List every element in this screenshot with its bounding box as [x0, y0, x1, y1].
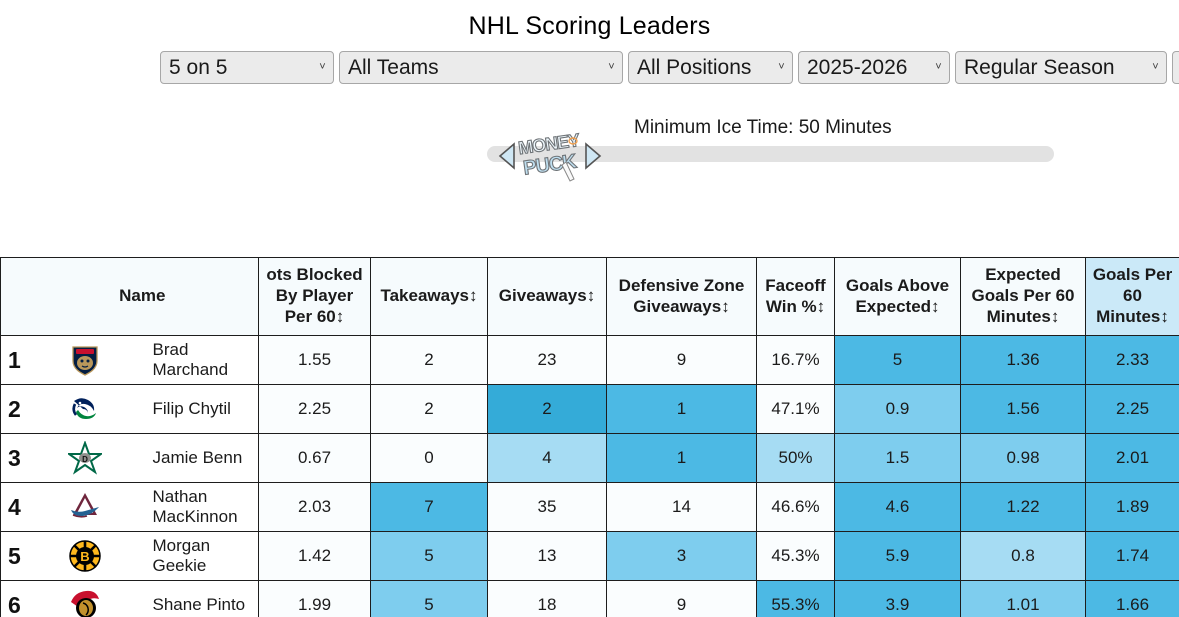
cell-dzgive: 3 [607, 532, 757, 581]
cell-takeaways: 7 [371, 483, 488, 532]
cell-giveaways: 13 [488, 532, 607, 581]
table-row[interactable]: 3DJamie Benn0.6704150%1.50.982.01 [1, 434, 1179, 483]
team-logo-icon [27, 581, 143, 617]
cell-g60: 1.74 [1086, 532, 1179, 581]
column-header-expected-goals-per-60[interactable]: Expected Goals Per 60 Minutes↕ [961, 258, 1086, 336]
cell-gax: 5.9 [835, 532, 961, 581]
cell-blocks60: 1.55 [259, 336, 371, 385]
scoring-leaders-table-wrapper[interactable]: Name ots Blocked By Player Per 60↕ Takea… [0, 257, 1179, 617]
row-rank: 4 [1, 483, 27, 532]
column-header-defensive-zone-giveaways[interactable]: Defensive Zone Giveaways↕ [607, 258, 757, 336]
cell-giveaways: 2 [488, 385, 607, 434]
chevron-down-icon: ˅ [318, 63, 327, 72]
row-rank: 5 [1, 532, 27, 581]
cell-blocks60: 2.25 [259, 385, 371, 434]
table-body: 1Brad Marchand1.55223916.7%51.362.332Fil… [1, 336, 1179, 617]
cell-giveaways: 23 [488, 336, 607, 385]
season-type-dropdown-label: Regular Season [964, 57, 1115, 78]
cell-xg60: 1.01 [961, 581, 1086, 617]
position-dropdown-label: All Positions [637, 57, 751, 78]
player-name[interactable]: Jamie Benn [143, 434, 259, 483]
cell-gax: 0.9 [835, 385, 961, 434]
cell-fow: 55.3% [757, 581, 835, 617]
chevron-down-icon: ˅ [607, 63, 616, 72]
column-header-faceoff-win-pct[interactable]: Faceoff Win %↕ [757, 258, 835, 336]
svg-text:D: D [82, 455, 88, 464]
player-name[interactable]: Filip Chytil [143, 385, 259, 434]
row-rank: 2 [1, 385, 27, 434]
situation-dropdown[interactable]: 5 on 5 ˅ [160, 51, 334, 84]
sort-icon[interactable]: ↕ [931, 297, 940, 316]
cell-dzgive: 14 [607, 483, 757, 532]
season-dropdown-label: 2025-2026 [807, 57, 907, 78]
cell-dzgive: 9 [607, 581, 757, 617]
season-dropdown[interactable]: 2025-2026 ˅ [798, 51, 950, 84]
cell-dzgive: 9 [607, 336, 757, 385]
sort-icon[interactable]: ↕ [1051, 307, 1060, 326]
row-rank: 1 [1, 336, 27, 385]
cell-dzgive: 1 [607, 434, 757, 483]
page-title: NHL Scoring Leaders [0, 0, 1179, 41]
team-logo-icon [27, 483, 143, 532]
cell-xg60: 1.36 [961, 336, 1086, 385]
sort-icon[interactable]: ↕ [1160, 307, 1169, 326]
cell-blocks60: 0.67 [259, 434, 371, 483]
season-type-dropdown[interactable]: Regular Season ˅ [955, 51, 1167, 84]
cell-takeaways: 2 [371, 336, 488, 385]
cell-xg60: 1.22 [961, 483, 1086, 532]
cell-g60: 2.25 [1086, 385, 1179, 434]
column-header-goals-above-expected[interactable]: Goals Above Expected↕ [835, 258, 961, 336]
sort-icon[interactable]: ↕ [721, 297, 730, 316]
cell-xg60: 0.98 [961, 434, 1086, 483]
cell-xg60: 0.8 [961, 532, 1086, 581]
cell-fow: 50% [757, 434, 835, 483]
table-row[interactable]: 6Shane Pinto1.99518955.3%3.91.011.66 [1, 581, 1179, 617]
cell-giveaways: 35 [488, 483, 607, 532]
cell-g60: 2.33 [1086, 336, 1179, 385]
chevron-down-icon: ˅ [1151, 63, 1160, 72]
player-name[interactable]: Brad Marchand [143, 336, 259, 385]
team-logo-icon: B [27, 532, 143, 581]
cell-gax: 4.6 [835, 483, 961, 532]
filter-bar: 5 on 5 ˅ All Teams ˅ All Positions ˅ 202… [160, 51, 1179, 84]
column-header-giveaways[interactable]: Giveaways↕ [488, 258, 607, 336]
team-dropdown[interactable]: All Teams ˅ [339, 51, 623, 84]
svg-text:B: B [80, 549, 89, 564]
sort-icon[interactable]: ↕ [469, 286, 478, 305]
column-header-takeaways-label: Takeaways [380, 286, 469, 305]
overflow-dropdown[interactable]: A [1172, 51, 1179, 84]
table-header: Name ots Blocked By Player Per 60↕ Takea… [1, 258, 1179, 336]
cell-gax: 5 [835, 336, 961, 385]
column-header-giveaways-label: Giveaways [499, 286, 587, 305]
table-header-row: Name ots Blocked By Player Per 60↕ Takea… [1, 258, 1179, 336]
column-header-goals-per-60[interactable]: Goals Per 60 Minutes↕ [1086, 258, 1179, 336]
cell-g60: 2.01 [1086, 434, 1179, 483]
column-header-name-label: Name [119, 286, 165, 305]
sort-icon[interactable]: ↕ [587, 286, 596, 305]
cell-blocks60: 2.03 [259, 483, 371, 532]
team-logo-icon [27, 336, 143, 385]
cell-blocks60: 1.42 [259, 532, 371, 581]
column-header-shots-blocked-per-60-label: ots Blocked By Player Per 60 [266, 265, 362, 325]
cell-fow: 45.3% [757, 532, 835, 581]
cell-takeaways: 2 [371, 385, 488, 434]
row-rank: 3 [1, 434, 27, 483]
column-header-shots-blocked-per-60[interactable]: ots Blocked By Player Per 60↕ [259, 258, 371, 336]
chevron-down-icon: ˅ [777, 63, 786, 72]
table-row[interactable]: 4Nathan MacKinnon2.037351446.6%4.61.221.… [1, 483, 1179, 532]
cell-dzgive: 1 [607, 385, 757, 434]
minimum-ice-time-label: Minimum Ice Time: 50 Minutes [634, 117, 892, 139]
cell-blocks60: 1.99 [259, 581, 371, 617]
cell-gax: 1.5 [835, 434, 961, 483]
cell-fow: 47.1% [757, 385, 835, 434]
sort-icon[interactable]: ↕ [336, 307, 345, 326]
chevron-down-icon: ˅ [934, 63, 943, 72]
player-name[interactable]: Shane Pinto [143, 581, 259, 617]
cell-xg60: 1.56 [961, 385, 1086, 434]
table-row[interactable]: 5BMorgan Geekie1.42513345.3%5.90.81.74 [1, 532, 1179, 581]
situation-dropdown-label: 5 on 5 [169, 57, 227, 78]
cell-giveaways: 18 [488, 581, 607, 617]
moneypuck-scoring-leaders-page: NHL Scoring Leaders 5 on 5 ˅ All Teams ˅… [0, 0, 1179, 617]
column-header-takeaways[interactable]: Takeaways↕ [371, 258, 488, 336]
table-row[interactable]: 1Brad Marchand1.55223916.7%51.362.33 [1, 336, 1179, 385]
position-dropdown[interactable]: All Positions ˅ [628, 51, 793, 84]
sort-icon[interactable]: ↕ [817, 297, 826, 316]
cell-giveaways: 4 [488, 434, 607, 483]
team-logo-icon: D [27, 434, 143, 483]
moneypuck-logo: MONEY PUCK [496, 124, 604, 188]
team-dropdown-label: All Teams [348, 57, 439, 78]
cell-takeaways: 5 [371, 532, 488, 581]
team-logo-icon [27, 385, 143, 434]
cell-g60: 1.89 [1086, 483, 1179, 532]
scoring-leaders-table: Name ots Blocked By Player Per 60↕ Takea… [0, 257, 1179, 617]
cell-gax: 3.9 [835, 581, 961, 617]
cell-fow: 16.7% [757, 336, 835, 385]
table-row[interactable]: 2Filip Chytil2.2522147.1%0.91.562.25 [1, 385, 1179, 434]
cell-g60: 1.66 [1086, 581, 1179, 617]
cell-takeaways: 5 [371, 581, 488, 617]
cell-takeaways: 0 [371, 434, 488, 483]
column-header-name: Name [27, 258, 259, 336]
row-rank: 6 [1, 581, 27, 617]
column-header-rank [1, 258, 27, 336]
cell-fow: 46.6% [757, 483, 835, 532]
player-name[interactable]: Morgan Geekie [143, 532, 259, 581]
player-name[interactable]: Nathan MacKinnon [143, 483, 259, 532]
